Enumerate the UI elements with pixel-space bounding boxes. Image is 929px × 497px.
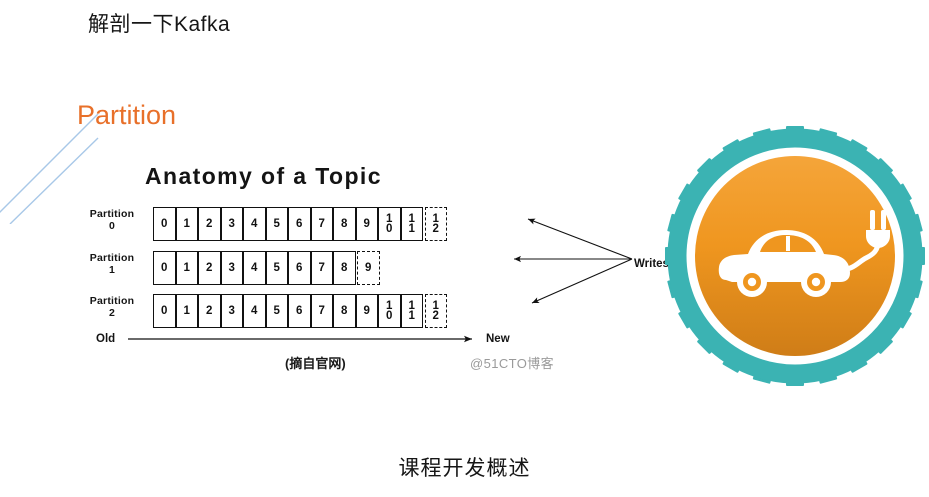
writes-arrows: [510, 193, 650, 323]
partition-cell: 4: [243, 207, 266, 241]
partition-label: Partition 2: [74, 295, 150, 319]
partition-cell: 7: [311, 251, 334, 285]
slide-canvas: 解剖一下Kafka Partition Anatomy of a Topic P…: [0, 0, 929, 497]
partition-cell-pending: 9: [357, 251, 380, 285]
partition-cell: 1: [176, 294, 199, 328]
diagram-caption: (摘自官网): [285, 353, 346, 372]
partition-label: Partition 0: [74, 208, 150, 232]
section-heading-partition: Partition: [77, 100, 176, 131]
partition-cell: 1: [176, 251, 199, 285]
cell-digit: 0: [386, 224, 392, 234]
partition-label-text: Partition: [90, 252, 134, 264]
partition-cell: 10: [378, 294, 401, 328]
diagram-title: Anatomy of a Topic: [145, 163, 382, 190]
watermark: @51CTO博客: [470, 353, 554, 372]
footer-caption: 课程开发概述: [0, 452, 929, 482]
partition-cell: 4: [243, 251, 266, 285]
anatomy-of-topic-diagram: Anatomy of a Topic Partition 0 012345678…: [70, 163, 645, 378]
partition-cell: 6: [288, 251, 311, 285]
partition-cell: 11: [401, 207, 424, 241]
cell-digit: 2: [433, 311, 439, 321]
partition-cell: 2: [198, 207, 221, 241]
partition-cell: 3: [221, 207, 244, 241]
partition-cell: 9: [356, 294, 379, 328]
cell-digit: 2: [433, 224, 439, 234]
partition-index: 0: [74, 220, 150, 232]
new-label: New: [486, 333, 510, 345]
partition-cell: 8: [333, 207, 356, 241]
partition-cell-pending: 12: [425, 207, 448, 241]
partition-cell: 2: [198, 251, 221, 285]
electric-car-gear-badge-icon: [662, 122, 928, 390]
partition-cell: 5: [266, 207, 289, 241]
cell-digit: 1: [409, 311, 415, 321]
partition-cell: 0: [153, 294, 176, 328]
partition-cell: 2: [198, 294, 221, 328]
partition-cell: 6: [288, 207, 311, 241]
partition-index: 2: [74, 307, 150, 319]
partition-cell: 5: [266, 294, 289, 328]
partition-cell-pending: 12: [425, 294, 448, 328]
partition-cell: 9: [356, 207, 379, 241]
partition-label: Partition 1: [74, 252, 150, 276]
old-label: Old: [96, 333, 115, 345]
partition-cell: 5: [266, 251, 289, 285]
partition-cells: 0123456789101112: [153, 207, 447, 241]
partition-cell: 10: [378, 207, 401, 241]
partition-cell: 6: [288, 294, 311, 328]
cell-digit: 0: [386, 311, 392, 321]
partition-label-text: Partition: [90, 295, 134, 307]
partition-cell: 0: [153, 251, 176, 285]
partition-cell: 7: [311, 207, 334, 241]
partition-cell: 11: [401, 294, 424, 328]
cell-digit: 1: [409, 224, 415, 234]
partition-cell: 3: [221, 294, 244, 328]
partition-cell: 1: [176, 207, 199, 241]
partition-cell: 8: [333, 251, 356, 285]
partition-cell: 3: [221, 251, 244, 285]
partition-cell: 8: [333, 294, 356, 328]
partition-cells: 0123456789: [153, 251, 380, 285]
timeline-arrow: [128, 331, 478, 349]
old-new-timeline: Old New: [96, 331, 566, 349]
page-title: 解剖一下Kafka: [88, 8, 230, 38]
partition-cell: 7: [311, 294, 334, 328]
partition-cell: 4: [243, 294, 266, 328]
partition-label-text: Partition: [90, 208, 134, 220]
partition-index: 1: [74, 264, 150, 276]
partition-cells: 0123456789101112: [153, 294, 447, 328]
partition-cell: 0: [153, 207, 176, 241]
